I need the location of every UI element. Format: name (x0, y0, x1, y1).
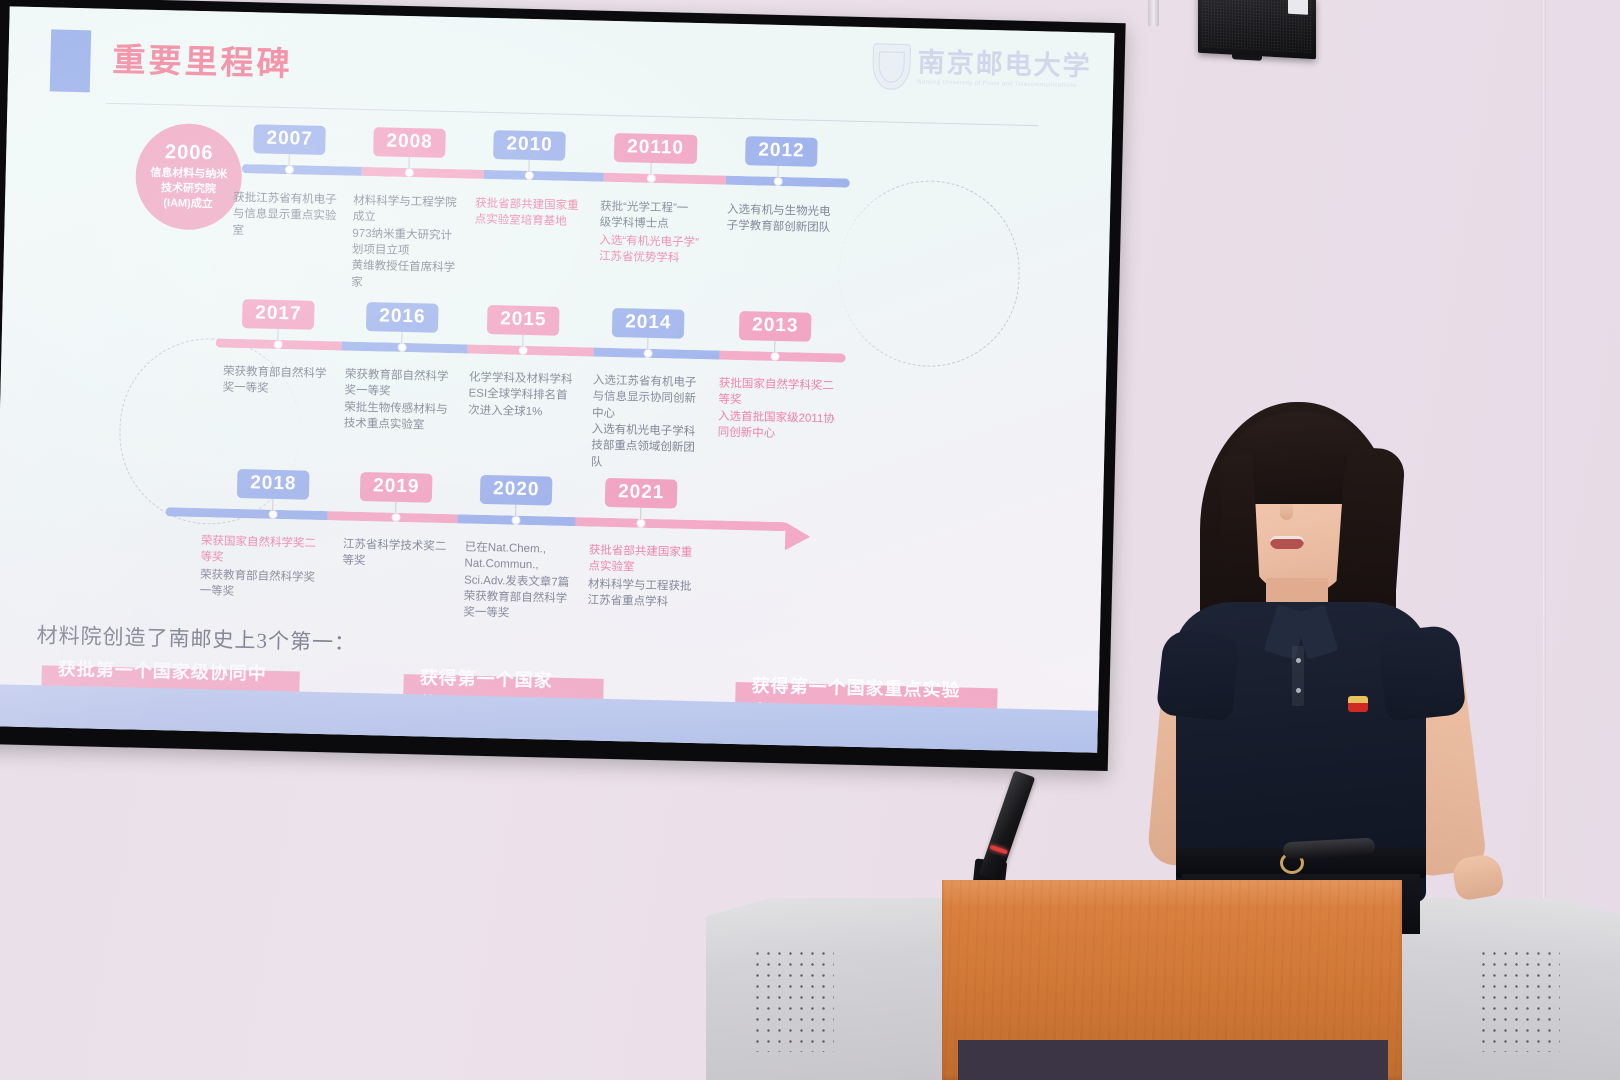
timeline-node (644, 350, 651, 357)
timeline-text-2017: 荣获教育部自然科学 奖一等奖 (222, 364, 335, 399)
timeline-text-2020: 已在Nat.Chem., Nat.Commun., Sci.Adv.发表文章7篇… (463, 540, 577, 624)
origin-year: 2006 (165, 141, 214, 165)
year-chip-2010: 2010 (493, 130, 566, 161)
mouth (1270, 536, 1304, 549)
shirt-button (1296, 658, 1301, 663)
timeline-text-20110: 获批“光学工程”一 级学科博士点 (600, 199, 713, 234)
timeline-row-3: 2018 2019 2020 2021 荣获国家自然科学奖二 等奖 荣获教育部自… (10, 6, 1115, 33)
timeline-text-2008: 材料科学与工程学院 成立 973纳米重大研究计 划项目立项 黄维教授任首席科学 … (351, 193, 465, 294)
origin-text: 信息材料与纳米 技术研究院 (IAM)成立 (149, 166, 227, 213)
timeline-node (269, 511, 276, 518)
timeline-arrow-icon (785, 522, 811, 551)
timeline-node (512, 517, 519, 524)
title-divider (105, 103, 1038, 126)
year-chip-2019: 2019 (360, 472, 433, 503)
timeline-text-2014: 入选江苏省有机电子 与信息显示协同创新 中心 入选有机光电子学科 技部重点领域创… (591, 373, 705, 474)
timeline-node (771, 353, 778, 360)
bar-segment (468, 345, 594, 357)
timeline-node (405, 169, 412, 176)
university-crest-icon (872, 43, 911, 90)
projection-screen-frame: 重要里程碑 南京邮电大学 Nanjing University of Posts… (0, 0, 1126, 771)
timeline-text-2007: 获批江苏省有机电子 与信息显示重点实验 室 (232, 190, 345, 242)
conclusion-label: 材料院创造了南邮史上3个第一： (36, 619, 356, 657)
timeline-text-2013: 获批国家自然学科奖二 等奖 入选首批国家级2011协 同创新中心 (717, 376, 837, 444)
timeline-text-2021: 材料科学与工程获批 江苏省重点学科 (587, 576, 710, 612)
timeline-text-2019: 江苏省科学技术奖二 等奖 (342, 537, 455, 572)
logo-wordmark: 南京邮电大学 (917, 49, 1092, 80)
bar-segment (362, 167, 484, 179)
timeline-node (398, 344, 405, 351)
bar-segment (593, 348, 719, 360)
timeline-text-2016: 荣获教育部自然科学 奖一等奖 荣批生物传感材料与 技术重点实验室 (344, 367, 458, 435)
timeline-loop-right (837, 178, 1021, 368)
podium-vent-right (1478, 948, 1560, 1052)
year-chip-2015: 2015 (487, 305, 560, 336)
projection-screen-surface: 重要里程碑 南京邮电大学 Nanjing University of Posts… (0, 6, 1114, 752)
bar-segment (726, 176, 850, 188)
bar-segment (604, 173, 726, 185)
speaker-label (1288, 0, 1308, 15)
year-chip-2008: 2008 (373, 127, 446, 158)
timeline-node (392, 514, 399, 521)
bar-segment (242, 164, 362, 176)
year-chip-2013: 2013 (739, 311, 812, 342)
timeline-node (274, 341, 281, 348)
page-title: 重要里程碑 (112, 33, 293, 85)
timeline-bar-3 (166, 507, 788, 531)
shirt-placket (1292, 646, 1304, 706)
timeline-text-2018-highlight: 荣获国家自然科学奖二 等奖 (200, 533, 321, 569)
timeline-node (774, 178, 781, 185)
lecture-room-scene: 重要里程碑 南京邮电大学 Nanjing University of Posts… (0, 0, 1620, 1080)
presentation-slide: 重要里程碑 南京邮电大学 Nanjing University of Posts… (0, 6, 1114, 752)
timeline-text-20110-highlight: 入选“有机光电子学” 江苏省优势学科 (599, 233, 712, 268)
timeline-text-2012: 入选有机与生物光电 子学教育部创新团队 (726, 202, 839, 237)
timeline-node (647, 175, 654, 182)
timeline-bar-1 (242, 164, 850, 188)
wall-speaker-icon (1198, 0, 1316, 59)
timeline-node (519, 347, 526, 354)
title-accent-block (50, 29, 91, 92)
bar-segment (719, 351, 845, 363)
timeline-text-2010: 获批省部共建国家重 点实验室培育基地 (475, 196, 588, 231)
bar-segment (484, 170, 604, 182)
timeline-row-2: 2017 2016 2015 2014 2013 荣获教育部自然科学 奖一等奖 … (10, 6, 1115, 33)
timeline-origin-2006: 2006 信息材料与纳米 技术研究院 (IAM)成立 (134, 122, 243, 231)
shirt-button (1296, 688, 1301, 693)
presenter (1120, 396, 1540, 916)
year-chip-20110: 20110 (614, 133, 697, 164)
timeline-row-1: 2007 2008 2010 20110 2012 获批江苏省有机电子 与信息显… (10, 6, 1115, 33)
party-emblem-pin-icon (1348, 696, 1368, 712)
year-chip-2018: 2018 (237, 469, 310, 500)
year-chip-2014: 2014 (612, 308, 685, 339)
year-chip-2016: 2016 (366, 302, 439, 333)
year-chip-2017: 2017 (242, 299, 315, 330)
timeline-text-2018: 荣获教育部自然科学奖 一等奖 (200, 567, 321, 603)
university-logo: 南京邮电大学 Nanjing University of Posts and T… (872, 43, 1092, 94)
year-chip-2020: 2020 (480, 475, 553, 506)
podium-base (958, 1040, 1388, 1080)
podium-vent-left (752, 948, 834, 1052)
bar-segment (575, 517, 787, 531)
year-chip-2012: 2012 (745, 136, 818, 167)
sleeve-right (1378, 624, 1467, 722)
microphone-led-indicator (990, 845, 1008, 855)
ceiling-mount-pole (1148, 0, 1159, 26)
timeline-node (285, 166, 292, 173)
timeline-text-2015: 化学学科及材料学科 ESI全球学科排名首 次进入全球1% (468, 370, 581, 422)
timeline-node (637, 520, 644, 527)
timeline-bar-2 (216, 338, 846, 362)
timeline-node (525, 172, 532, 179)
year-chip-2007: 2007 (253, 124, 326, 155)
sleeve-left (1156, 628, 1241, 721)
year-chip-2021: 2021 (605, 478, 678, 509)
timeline-text-2021-highlight: 获批省部共建国家重 点实验室 (588, 542, 711, 578)
